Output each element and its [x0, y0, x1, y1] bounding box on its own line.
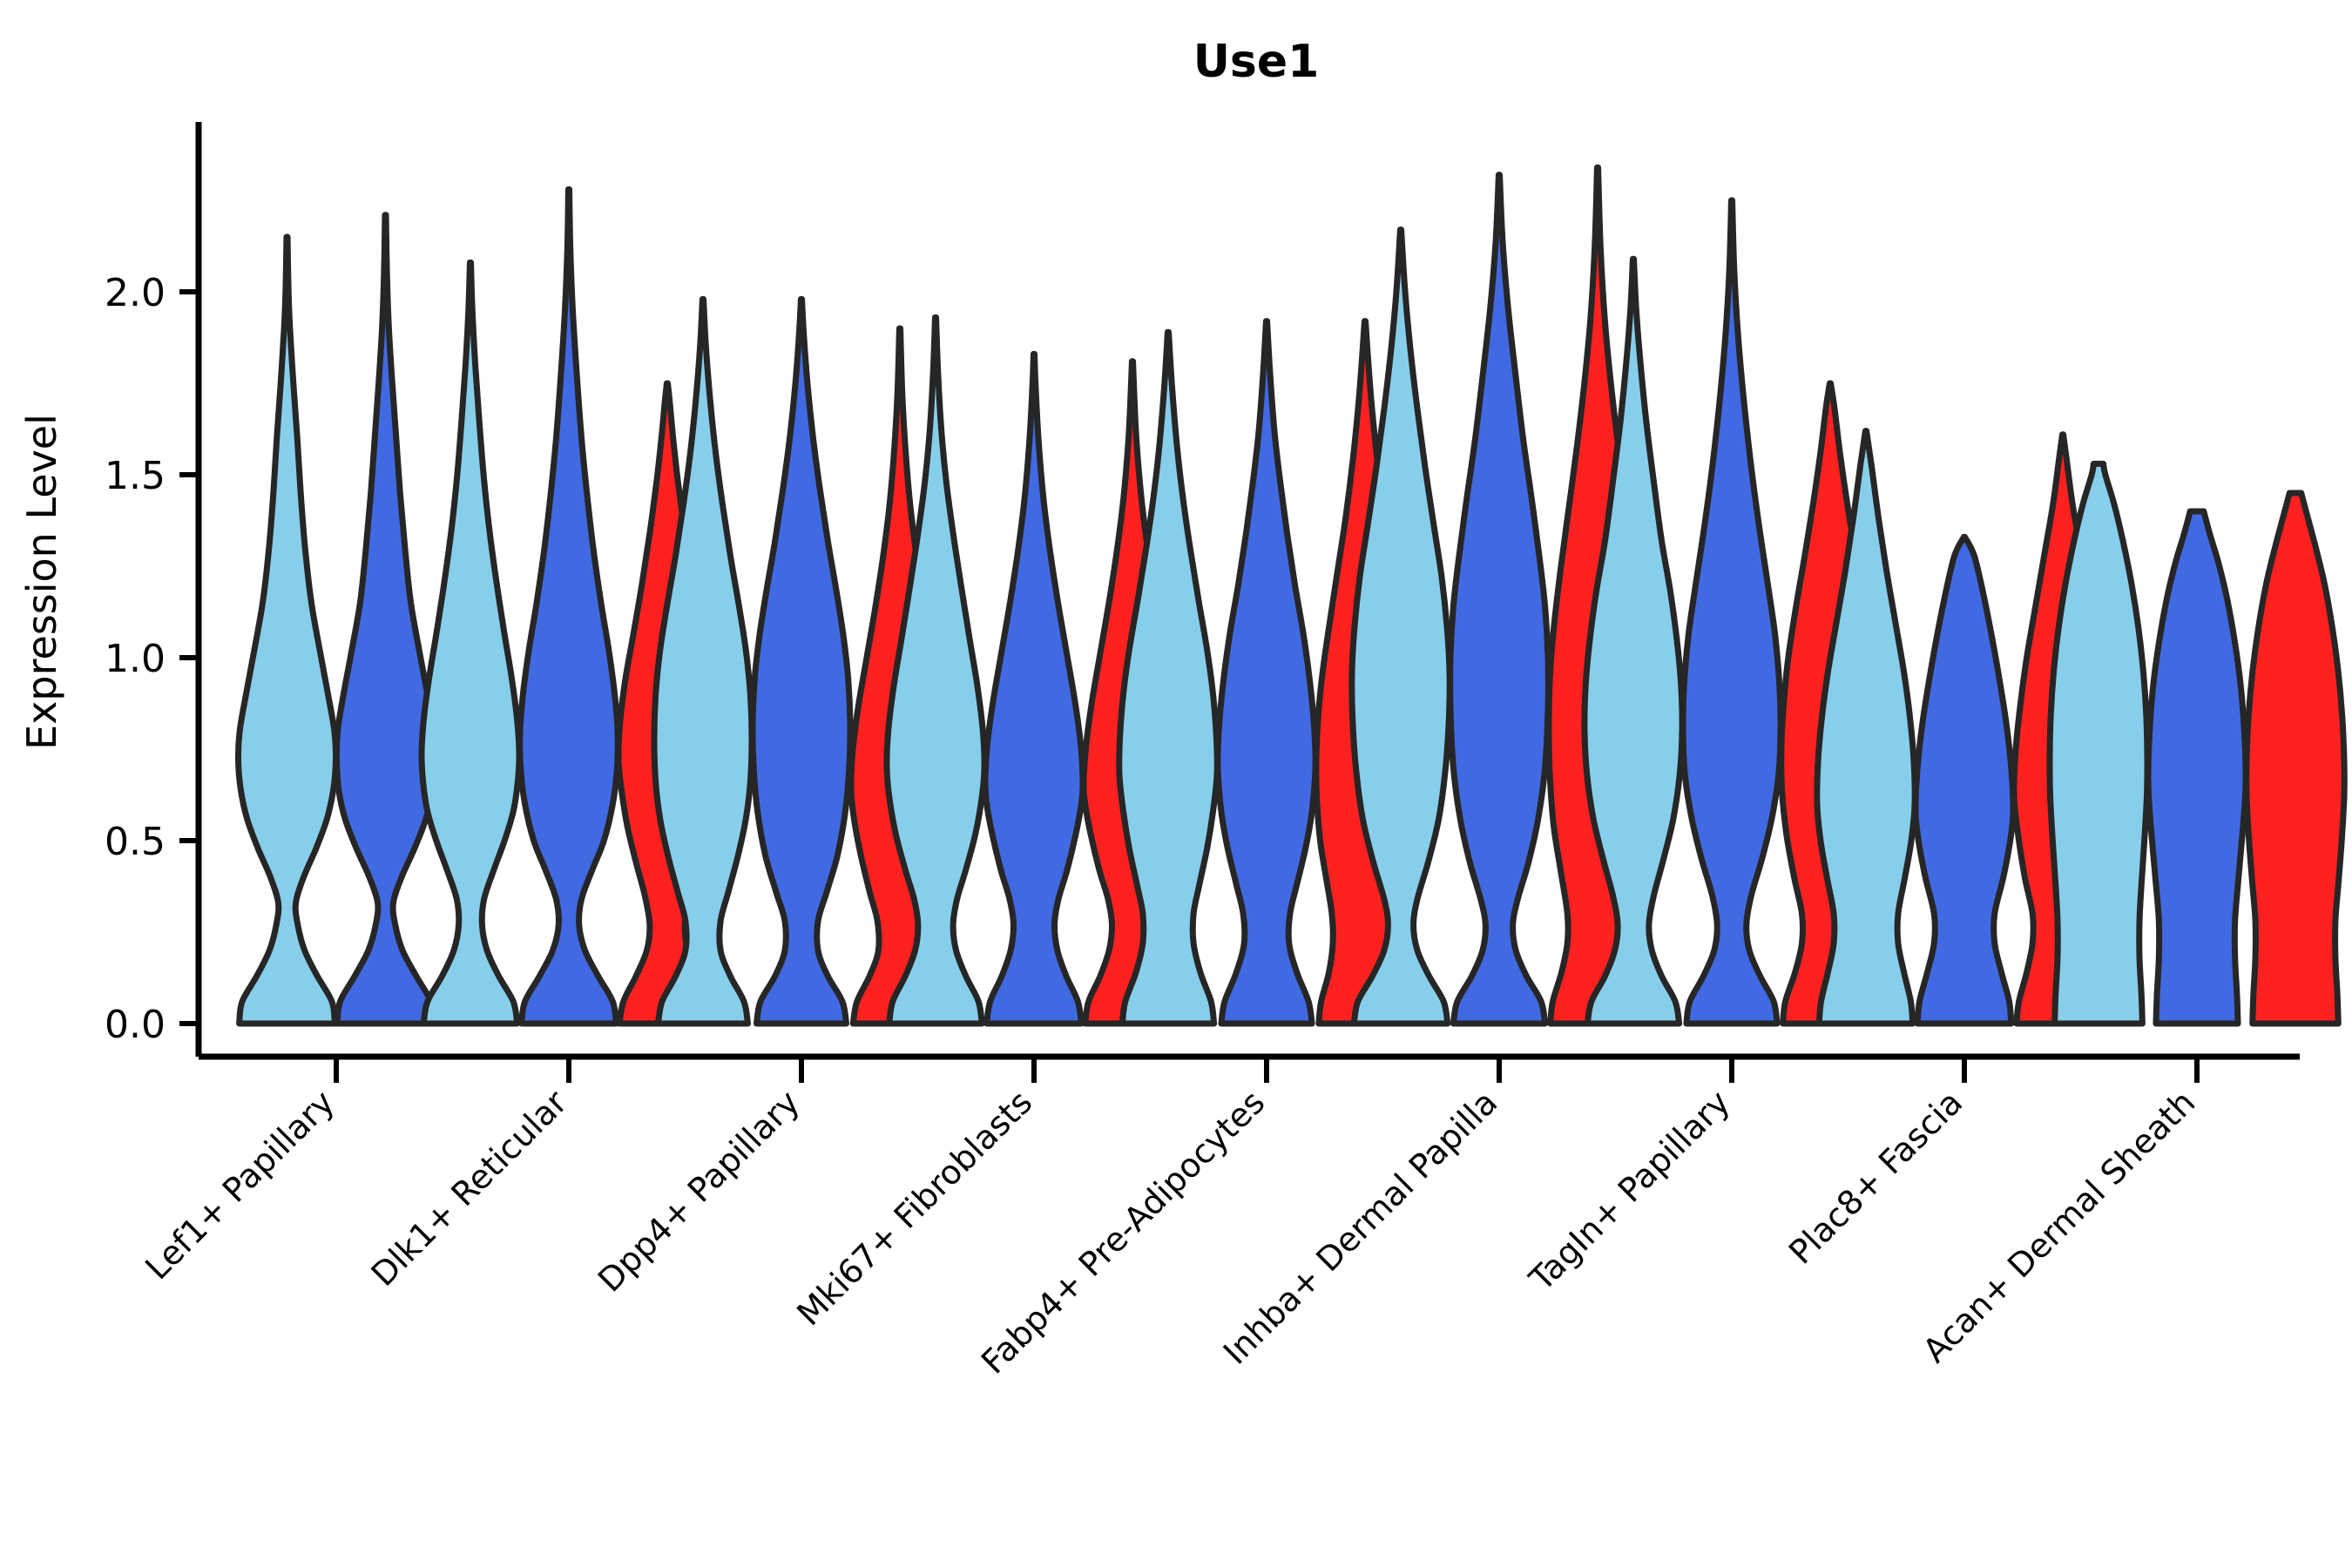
y-tick-label: 2.0	[105, 271, 166, 315]
y-tick-label: 0.0	[105, 1003, 166, 1047]
y-tick-label: 1.5	[105, 454, 166, 498]
figure-canvas: Use1 Expression Level 0.00.51.01.52.0 Le…	[0, 0, 2352, 1568]
violin-plot-figure: Use1 Expression Level 0.00.51.01.52.0 Le…	[0, 0, 2352, 1568]
y-tick-label: 1.0	[105, 637, 166, 681]
y-axis-label: Expression Level	[18, 414, 65, 750]
page-title: Use1	[1193, 36, 1320, 88]
y-tick-label: 0.5	[105, 820, 166, 864]
